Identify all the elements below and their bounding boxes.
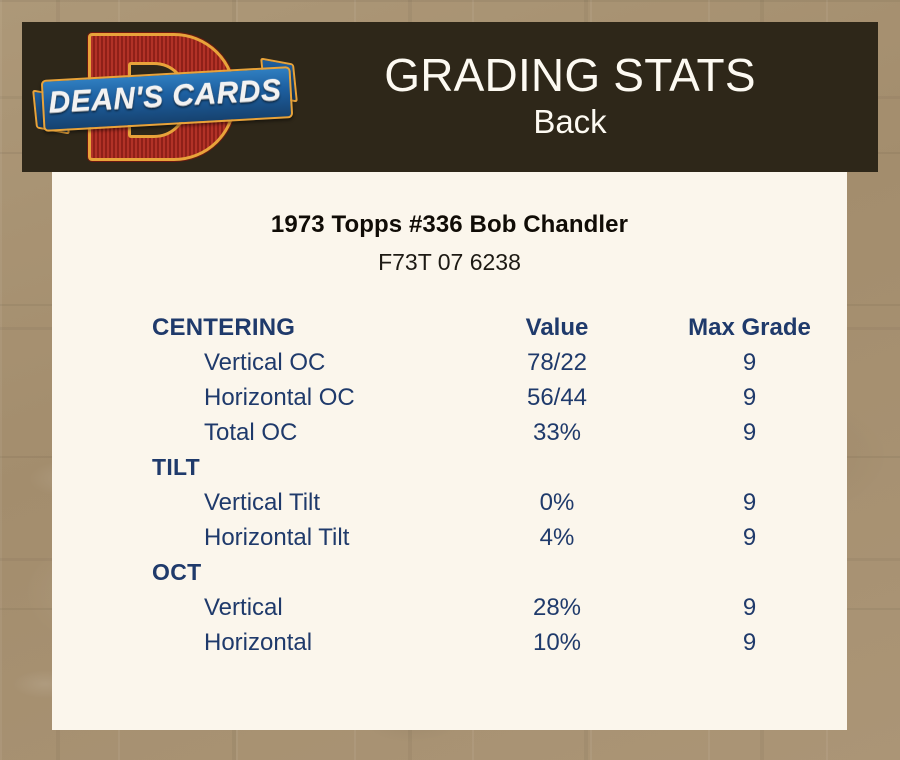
section-label: TILT bbox=[52, 450, 462, 485]
stat-label: Horizontal OC bbox=[52, 380, 462, 415]
page-subtitle: Back bbox=[298, 101, 842, 142]
table-section-row: OCT bbox=[52, 555, 847, 590]
content-panel: 1973 Topps #336 Bob Chandler F73T 07 623… bbox=[52, 172, 847, 730]
section-spacer-value bbox=[462, 555, 652, 590]
column-header-value: Value bbox=[462, 310, 652, 345]
table-row: Total OC33%9 bbox=[52, 415, 847, 450]
stat-value: 28% bbox=[462, 590, 652, 625]
stat-max-grade: 9 bbox=[652, 380, 847, 415]
logo-ribbon-icon: DEAN'S CARDS bbox=[36, 69, 294, 127]
table-row: Horizontal Tilt4%9 bbox=[52, 520, 847, 555]
grading-stats-table: CENTERING Value Max Grade Vertical OC78/… bbox=[52, 310, 847, 660]
table-row: Vertical Tilt0%9 bbox=[52, 485, 847, 520]
section-spacer-grade bbox=[652, 450, 847, 485]
header-title-block: GRADING STATS Back bbox=[298, 52, 878, 142]
stat-label: Vertical Tilt bbox=[52, 485, 462, 520]
stat-max-grade: 9 bbox=[652, 590, 847, 625]
table-row: Vertical OC78/229 bbox=[52, 345, 847, 380]
table-body: Vertical OC78/229Horizontal OC56/449Tota… bbox=[52, 345, 847, 660]
stat-max-grade: 9 bbox=[652, 345, 847, 380]
stat-value: 56/44 bbox=[462, 380, 652, 415]
card-title: 1973 Topps #336 Bob Chandler bbox=[52, 211, 847, 239]
stat-value: 4% bbox=[462, 520, 652, 555]
section-spacer-grade bbox=[652, 555, 847, 590]
column-header-max-grade: Max Grade bbox=[652, 310, 847, 345]
table-head: CENTERING Value Max Grade bbox=[52, 310, 847, 345]
section-spacer-value bbox=[462, 450, 652, 485]
stat-max-grade: 9 bbox=[652, 625, 847, 660]
table-row: Vertical28%9 bbox=[52, 590, 847, 625]
deans-cards-logo[interactable]: DEAN'S CARDS bbox=[36, 27, 298, 167]
page-title: GRADING STATS bbox=[298, 52, 842, 99]
stat-max-grade: 9 bbox=[652, 415, 847, 450]
table-row: Horizontal OC56/449 bbox=[52, 380, 847, 415]
stat-label: Total OC bbox=[52, 415, 462, 450]
table-header-row: CENTERING Value Max Grade bbox=[52, 310, 847, 345]
stat-value: 0% bbox=[462, 485, 652, 520]
card-serial-number: F73T 07 6238 bbox=[52, 249, 847, 276]
stat-label: Horizontal Tilt bbox=[52, 520, 462, 555]
stat-label: Vertical OC bbox=[52, 345, 462, 380]
stat-value: 10% bbox=[462, 625, 652, 660]
stat-value: 33% bbox=[462, 415, 652, 450]
stat-value: 78/22 bbox=[462, 345, 652, 380]
stat-label: Vertical bbox=[52, 590, 462, 625]
table-section-row: TILT bbox=[52, 450, 847, 485]
section-label: OCT bbox=[52, 555, 462, 590]
stat-label: Horizontal bbox=[52, 625, 462, 660]
stat-max-grade: 9 bbox=[652, 485, 847, 520]
header-bar: DEAN'S CARDS GRADING STATS Back bbox=[22, 22, 878, 172]
stat-max-grade: 9 bbox=[652, 520, 847, 555]
table-row: Horizontal10%9 bbox=[52, 625, 847, 660]
column-header-centering: CENTERING bbox=[52, 310, 462, 345]
